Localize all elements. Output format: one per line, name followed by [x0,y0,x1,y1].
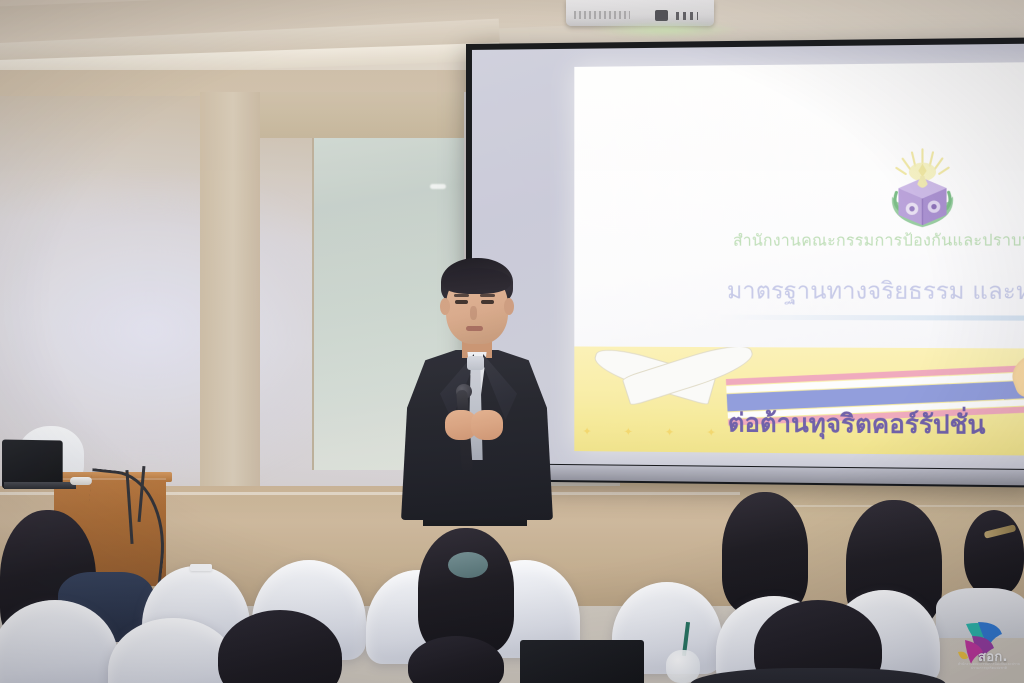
slide-organization-line: สำนักงานคณะกรรมการป้องกันและปราบปรามการท… [574,227,1024,253]
presenter-hand-right [471,410,503,440]
nacc-emblem [878,147,968,233]
photo-scene: สำนักงานคณะกรรมการป้องกันและปราบปรามการท… [0,0,1024,683]
computer-mouse [70,477,92,485]
audience-laptop [520,640,644,683]
presenter-nose [470,306,477,320]
presenter-ear-right [504,298,514,315]
presenter-eyebrow-left [454,294,469,297]
chair-number-tag [190,564,212,571]
projector-vent [574,11,630,19]
presenter-eye-left [455,300,468,304]
presenter-necktie-knot [467,356,484,370]
presenter-ear-left [440,298,450,315]
projected-slide: สำนักงานคณะกรรมการป้องกันและปราบปรามการท… [574,62,1024,456]
audience-head [418,528,514,654]
audience-head [964,510,1024,596]
presenter-hair-fringe [443,268,511,294]
podium-laptop-base [4,482,76,489]
projector-indicator-glow [590,22,740,38]
projector-lens-icon [655,10,668,21]
banner-text: ต่อต้านทุจริตคอร์รัปชั่น [574,402,1024,447]
wall-panel-column [200,92,260,522]
slide-title-underline [719,315,1024,321]
slide-title: มาตรฐานทางจริยธรรม และหลักธรรมาภิบาล [574,273,1024,310]
presenter [393,258,563,520]
presenter-mouth [466,326,483,331]
watermark-sub-text: สำนักงานคณะกรรมการป้องกันและปราบปรามการท… [956,662,1022,671]
presenter-eye-right [481,300,494,304]
audience-drink-cup [666,650,700,683]
slide-anticorruption-banner: ✦ ✦ ✦ ✦ ต่อต้านทุจริตคอร์รัปชั่น [574,346,1024,455]
presenter-eyebrow-right [480,294,495,297]
projector-buttons [676,12,698,20]
audience-hair-scrunchie [448,552,488,578]
